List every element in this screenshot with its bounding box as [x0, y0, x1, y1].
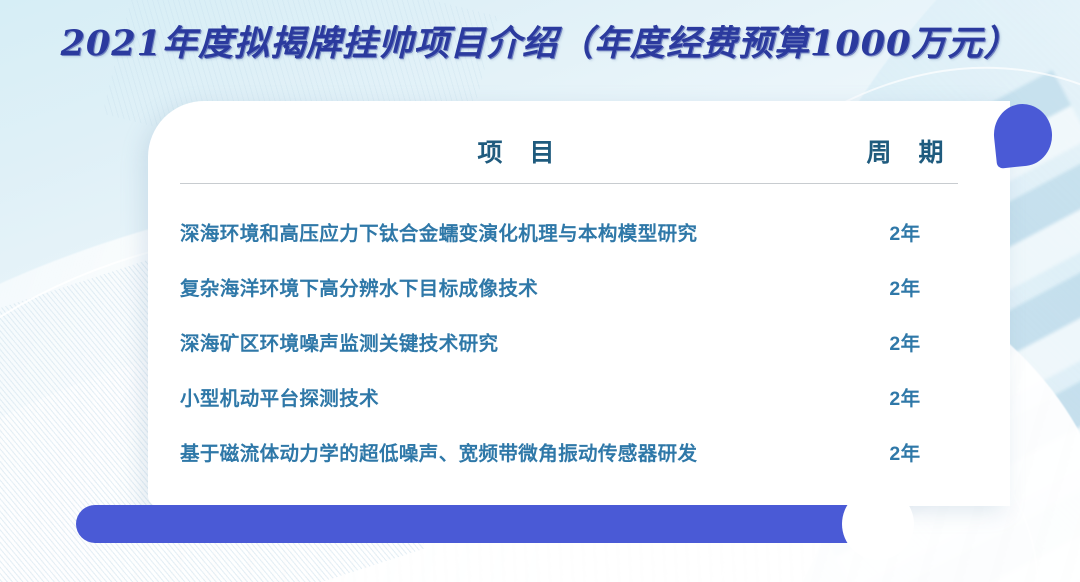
project-name: 复杂海洋环境下高分辨水下目标成像技术 — [180, 259, 852, 314]
project-period: 2年 — [852, 259, 958, 314]
bottom-accent-bar — [76, 505, 876, 543]
column-header-project: 项 目 — [180, 127, 852, 184]
project-name: 深海矿区环境噪声监测关键技术研究 — [180, 314, 852, 369]
slide-canvas: 2021年度拟揭牌挂帅项目介绍（年度经费预算1000万元） 项 目 周 期 深海… — [0, 0, 1080, 582]
project-table-container: 项 目 周 期 深海环境和高压应力下钛合金蠕变演化机理与本构模型研究 2年 复杂… — [148, 101, 1010, 506]
table-row: 深海矿区环境噪声监测关键技术研究 2年 — [180, 314, 958, 369]
table-body: 深海环境和高压应力下钛合金蠕变演化机理与本构模型研究 2年 复杂海洋环境下高分辨… — [180, 184, 958, 480]
table-row: 基于磁流体动力学的超低噪声、宽频带微角振动传感器研发 2年 — [180, 424, 958, 479]
project-name: 基于磁流体动力学的超低噪声、宽频带微角振动传感器研发 — [180, 424, 852, 479]
page-title: 2021年度拟揭牌挂帅项目介绍（年度经费预算1000万元） — [61, 15, 1020, 66]
table-header-row: 项 目 周 期 — [180, 127, 958, 184]
project-name: 小型机动平台探测技术 — [180, 369, 852, 424]
column-header-period: 周 期 — [852, 127, 958, 184]
table-row: 小型机动平台探测技术 2年 — [180, 369, 958, 424]
table-header: 项 目 周 期 — [180, 127, 958, 184]
table-row: 复杂海洋环境下高分辨水下目标成像技术 2年 — [180, 259, 958, 314]
project-period: 2年 — [852, 424, 958, 479]
project-period: 2年 — [852, 314, 958, 369]
table-row: 深海环境和高压应力下钛合金蠕变演化机理与本构模型研究 2年 — [180, 184, 958, 260]
project-period: 2年 — [852, 184, 958, 260]
project-period: 2年 — [852, 369, 958, 424]
project-table: 项 目 周 期 深海环境和高压应力下钛合金蠕变演化机理与本构模型研究 2年 复杂… — [180, 127, 958, 479]
project-name: 深海环境和高压应力下钛合金蠕变演化机理与本构模型研究 — [180, 184, 852, 260]
slide-title-bar: 2021年度拟揭牌挂帅项目介绍（年度经费预算1000万元） — [0, 0, 1080, 80]
